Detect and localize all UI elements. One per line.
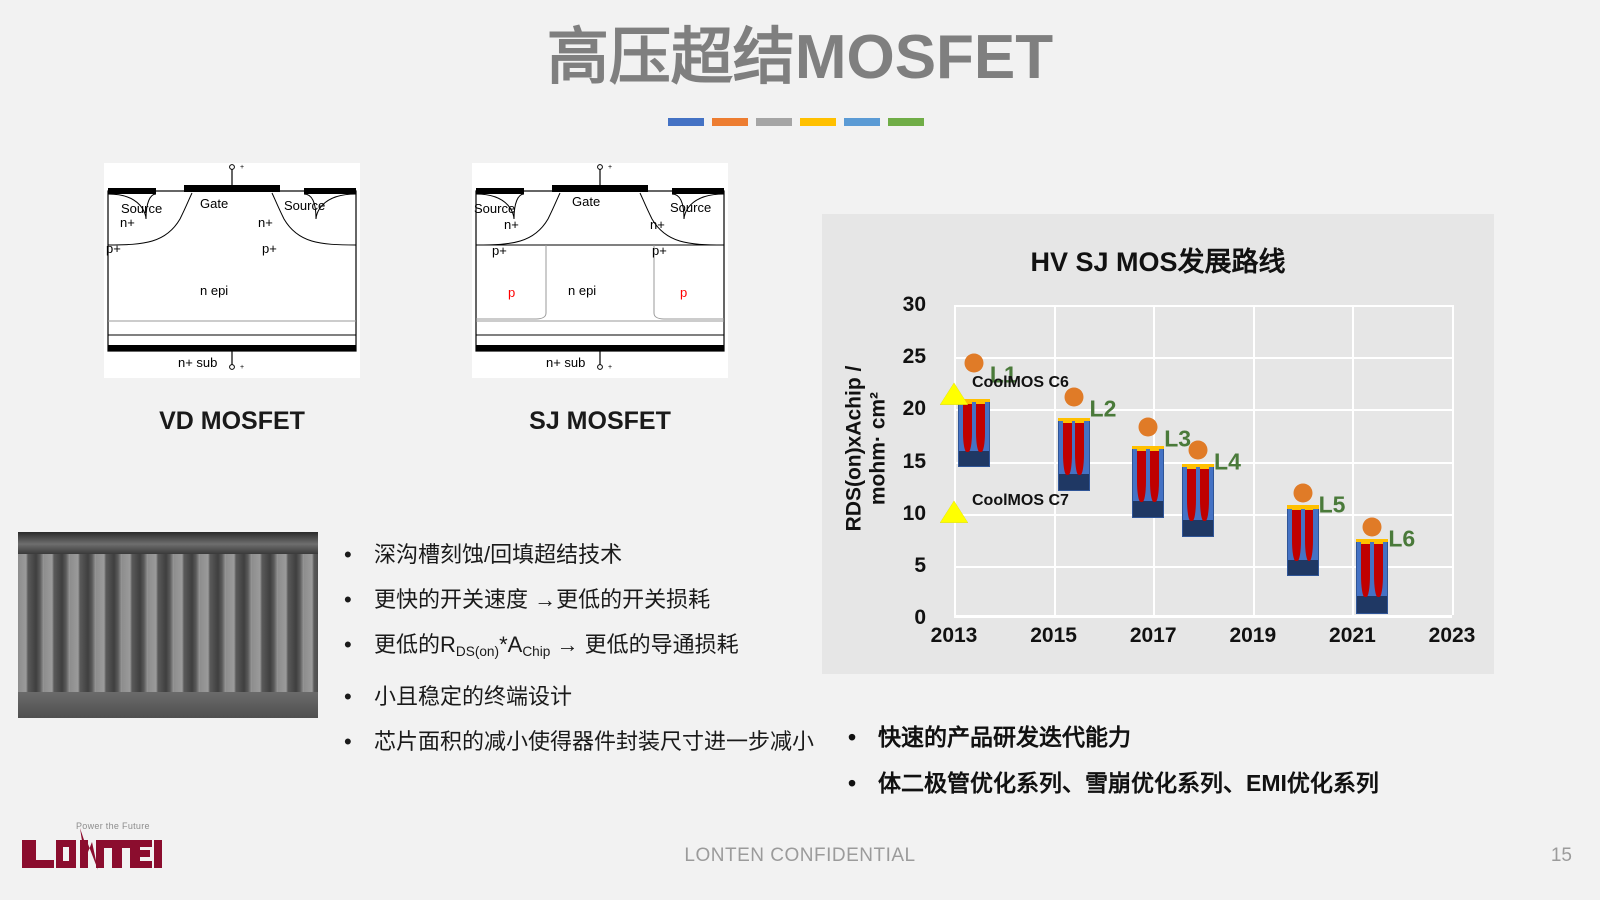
cell-contact-right (1305, 505, 1314, 510)
svg-text:+: + (240, 164, 244, 171)
cell-p-pillar-right (976, 403, 985, 452)
y-tick-label: 5 (914, 554, 926, 578)
cell-contact-left (1063, 418, 1072, 423)
gridline-vertical (1452, 305, 1454, 615)
mosfet-cell-bar (1058, 418, 1090, 491)
gridline-horizontal (954, 409, 1452, 411)
title-rule-segment-6 (888, 118, 924, 126)
cell-substrate (1059, 474, 1089, 490)
y-tick-label: 20 (903, 397, 926, 421)
gridline-vertical (1054, 305, 1056, 615)
gridline-horizontal (954, 357, 1452, 359)
data-point-marker (1293, 483, 1312, 502)
cell-p-pillar-right (1150, 450, 1159, 502)
label-nplus-left: n+ (504, 217, 519, 232)
feature-bullet-item: 深沟槽刻蚀/回填超结技术 (338, 532, 838, 577)
cell-contact-right (1200, 464, 1209, 469)
label-pplus-right: p+ (652, 243, 667, 258)
y-tick-label: 0 (914, 606, 926, 630)
x-tick-label: 2017 (1130, 624, 1177, 648)
label-pplus-left: p+ (492, 243, 507, 258)
gridline-vertical (1253, 305, 1255, 615)
data-point-marker (1139, 418, 1158, 437)
y-tick-label: 10 (903, 502, 926, 526)
cell-p-pillar-right (1075, 422, 1084, 475)
label-substrate: n+ sub (546, 355, 585, 370)
gridline-vertical (954, 305, 956, 615)
title-accent-rule (668, 118, 924, 126)
y-axis-ticks: 051015202530 (882, 292, 930, 618)
cell-p-pillar-left (1361, 543, 1370, 597)
vd-mosfet-caption: VD MOSFET (104, 407, 360, 436)
mosfet-cell-bar (1132, 446, 1164, 518)
mosfet-cell-bar (1356, 539, 1388, 614)
cell-p-pillar-right (1200, 468, 1209, 521)
feature-bullet-item: 更低的RDS(on)*AChip → 更低的导通损耗 (338, 622, 838, 674)
label-gate: Gate (572, 194, 600, 209)
title-rule-segment-2 (712, 118, 748, 126)
sem-substrate-layer (18, 692, 318, 718)
cell-p-pillar-right (1305, 510, 1314, 561)
sj-mosfet-caption: SJ MOSFET (472, 407, 728, 436)
y-tick-label: 30 (903, 293, 926, 317)
page-number: 15 (1551, 845, 1572, 867)
data-point-marker (1189, 441, 1208, 460)
title-rule-segment-4 (800, 118, 836, 126)
generation-label-l3: L3 (1164, 426, 1191, 453)
feature-bullet-item: 更快的开关速度 →更低的开关损耗 (338, 577, 838, 622)
label-epi: n epi (200, 283, 228, 298)
x-tick-label: 2021 (1329, 624, 1376, 648)
mosfet-cell-bar (1287, 505, 1319, 576)
vd-mosfet-diagram: + + Source Gate Source n+ n+ p+ p+ n epi… (104, 163, 360, 378)
page-title: 高压超结MOSFET (0, 22, 1600, 93)
cell-p-pillar-left (1292, 510, 1301, 561)
title-rule-segment-3 (756, 118, 792, 126)
svg-text:+: + (240, 364, 244, 371)
cell-substrate (1183, 520, 1213, 536)
capability-bullet-item: 体二极管优化系列、雪崩优化系列、EMI优化系列 (842, 760, 1542, 806)
sj-mosfet-svg: + + Source Gate Source n+ n+ p+ p+ n epi… (472, 163, 728, 378)
y-axis-title-line1: RDS(on)xAchip / (842, 366, 865, 532)
cell-substrate (1288, 560, 1318, 576)
generation-label-l6: L6 (1388, 526, 1415, 553)
logo-tagline: Power the Future (76, 821, 150, 831)
svg-text:+: + (608, 164, 612, 171)
cell-substrate (1357, 596, 1387, 613)
cell-contact-right (976, 399, 985, 404)
title-rule-segment-1 (668, 118, 704, 126)
title-rule-segment-5 (844, 118, 880, 126)
cell-contact-right (1150, 446, 1159, 451)
capability-bullet-list: 快速的产品研发迭代能力体二极管优化系列、雪崩优化系列、EMI优化系列 (842, 714, 1542, 806)
generation-label-l2: L2 (1090, 395, 1117, 422)
label-source-right: Source (670, 200, 711, 215)
generation-label-l5: L5 (1319, 491, 1346, 518)
label-pplus-left: p+ (106, 241, 121, 256)
chart-title: HV SJ MOS发展路线 (822, 240, 1494, 279)
cell-p-pillar-left (1063, 422, 1072, 475)
sj-mosfet-diagram: + + Source Gate Source n+ n+ p+ p+ n epi… (472, 163, 728, 378)
cell-p-pillar-left (1187, 468, 1196, 521)
cell-p-pillar-right (1374, 543, 1383, 597)
reference-label: CoolMOS C7 (972, 492, 1069, 510)
label-nplus-left: n+ (120, 215, 135, 230)
label-p-pillar-right: p (680, 285, 687, 300)
gridline-vertical (1352, 305, 1354, 615)
label-p-pillar-left: p (508, 285, 515, 300)
sem-top-layer (18, 532, 318, 554)
cell-contact-left (1292, 505, 1301, 510)
cell-contact-left (1361, 539, 1370, 544)
feature-bullet-item: 小且稳定的终端设计 (338, 674, 838, 719)
x-tick-label: 2013 (931, 624, 978, 648)
mosfet-cell-bar (958, 399, 990, 467)
mosfet-cell-bar (1182, 464, 1214, 537)
label-pplus-right: p+ (262, 241, 277, 256)
label-source-right: Source (284, 198, 325, 213)
cell-substrate (959, 451, 989, 466)
capability-bullet-item: 快速的产品研发迭代能力 (842, 714, 1542, 760)
data-point-marker (964, 354, 983, 373)
label-epi: n epi (568, 283, 596, 298)
confidential-footer: LONTEN CONFIDENTIAL (0, 845, 1600, 867)
y-tick-label: 25 (903, 345, 926, 369)
label-source-left: Source (474, 201, 515, 216)
chart-plot-area: L1L2L3L4L5L6CoolMOS C6CoolMOS C7 (954, 305, 1452, 618)
x-tick-label: 2023 (1429, 624, 1476, 648)
cell-p-pillar-left (1137, 450, 1146, 502)
cell-contact-right (1374, 539, 1383, 544)
x-axis-ticks: 201320152017201920212023 (954, 624, 1452, 658)
x-tick-label: 2015 (1030, 624, 1077, 648)
label-nplus-right: n+ (258, 215, 273, 230)
data-point-marker (1363, 518, 1382, 537)
label-gate: Gate (200, 196, 228, 211)
cell-substrate (1133, 501, 1163, 517)
feature-bullet-item: 芯片面积的减小使得器件封装尺寸进一步减小 (338, 719, 838, 764)
cell-p-pillar-left (963, 403, 972, 452)
cell-contact-left (1187, 464, 1196, 469)
gridline-horizontal (954, 305, 1452, 307)
label-substrate: n+ sub (178, 355, 217, 370)
reference-marker-triangle (940, 383, 968, 405)
feature-bullet-list: 深沟槽刻蚀/回填超结技术更快的开关速度 →更低的开关损耗更低的RDS(on)*A… (338, 532, 838, 764)
svg-text:+: + (608, 364, 612, 371)
cell-contact-left (1137, 446, 1146, 451)
reference-label: CoolMOS C6 (972, 374, 1069, 392)
trench-sem-image (18, 532, 318, 718)
generation-label-l4: L4 (1214, 449, 1241, 476)
vd-mosfet-svg: + + Source Gate Source n+ n+ p+ p+ n epi… (104, 163, 360, 378)
label-nplus-right: n+ (650, 217, 665, 232)
label-source-left: Source (121, 201, 162, 216)
cell-contact-right (1075, 418, 1084, 423)
y-tick-label: 15 (903, 450, 926, 474)
hv-sj-mos-roadmap-chart: HV SJ MOS发展路线 RDS(on)xAchip / mohm· cm² … (822, 214, 1494, 674)
x-tick-label: 2019 (1229, 624, 1276, 648)
reference-marker-triangle (940, 500, 968, 522)
